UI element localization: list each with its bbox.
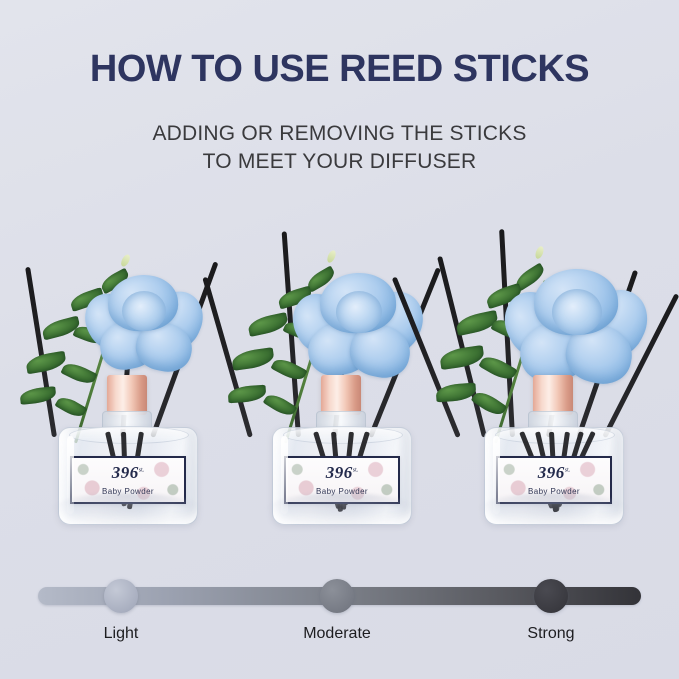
page-title: HOW TO USE REED STICKS (0, 50, 679, 90)
diffuser-bottle: 396st. Baby Powder (58, 417, 196, 525)
product-row: 396st. Baby Powder (0, 205, 679, 555)
bottle-shoulder (283, 426, 403, 444)
subtitle-line-1: ADDING OR REMOVING THE STICKS (0, 120, 679, 148)
intensity-slider[interactable]: Light Moderate Strong (0, 575, 679, 665)
bottle-shoulder (495, 426, 615, 444)
brand-suffix: st. (353, 467, 359, 473)
leaf (247, 312, 290, 337)
leaf (270, 355, 307, 384)
infographic-canvas: HOW TO USE REED STICKS ADDING OR REMOVIN… (0, 0, 679, 679)
product-diffuser-strong: 396st. Baby Powder (448, 205, 658, 555)
subtitle-line-2: TO MEET YOUR DIFFUSER (0, 148, 679, 176)
rose-flower (506, 263, 646, 385)
rose-core (336, 291, 382, 333)
leaf (231, 347, 275, 371)
bottle-shoulder (69, 426, 189, 444)
bottle-collar (533, 375, 573, 415)
diffuser-bottle: 396st. Baby Powder (484, 417, 622, 525)
leaf (19, 386, 56, 405)
leaf (439, 345, 485, 370)
diffuser-bottle: 396st. Baby Powder (272, 417, 410, 525)
bottle-reflection (478, 493, 628, 527)
leaf (227, 385, 266, 404)
product-diffuser-moderate: 396st. Baby Powder (236, 205, 446, 555)
bottle-collar (321, 375, 361, 415)
brand-name: 396st. (286, 463, 398, 483)
slider-label-strong: Strong (481, 625, 621, 643)
rose-core (122, 291, 166, 331)
brand-name: 396st. (498, 463, 610, 483)
leaf (478, 352, 517, 384)
rose-core (552, 289, 602, 335)
brand-suffix: st. (139, 467, 145, 473)
bottle-reflection (52, 493, 202, 527)
slider-label-light: Light (51, 625, 191, 643)
bottle-reflection (266, 493, 416, 527)
slider-knob-strong[interactable] (534, 579, 568, 613)
slider-label-moderate: Moderate (267, 625, 407, 643)
brand-suffix: st. (565, 467, 571, 473)
bottle-collar (107, 375, 147, 415)
page-subtitle: ADDING OR REMOVING THE STICKS TO MEET YO… (0, 120, 679, 175)
brand-name: 396st. (72, 463, 184, 483)
slider-knob-light[interactable] (104, 579, 138, 613)
rose-flower (294, 267, 422, 379)
product-diffuser-light: 396st. Baby Powder (22, 205, 232, 555)
rose-flower (84, 269, 202, 373)
slider-knob-moderate[interactable] (320, 579, 354, 613)
